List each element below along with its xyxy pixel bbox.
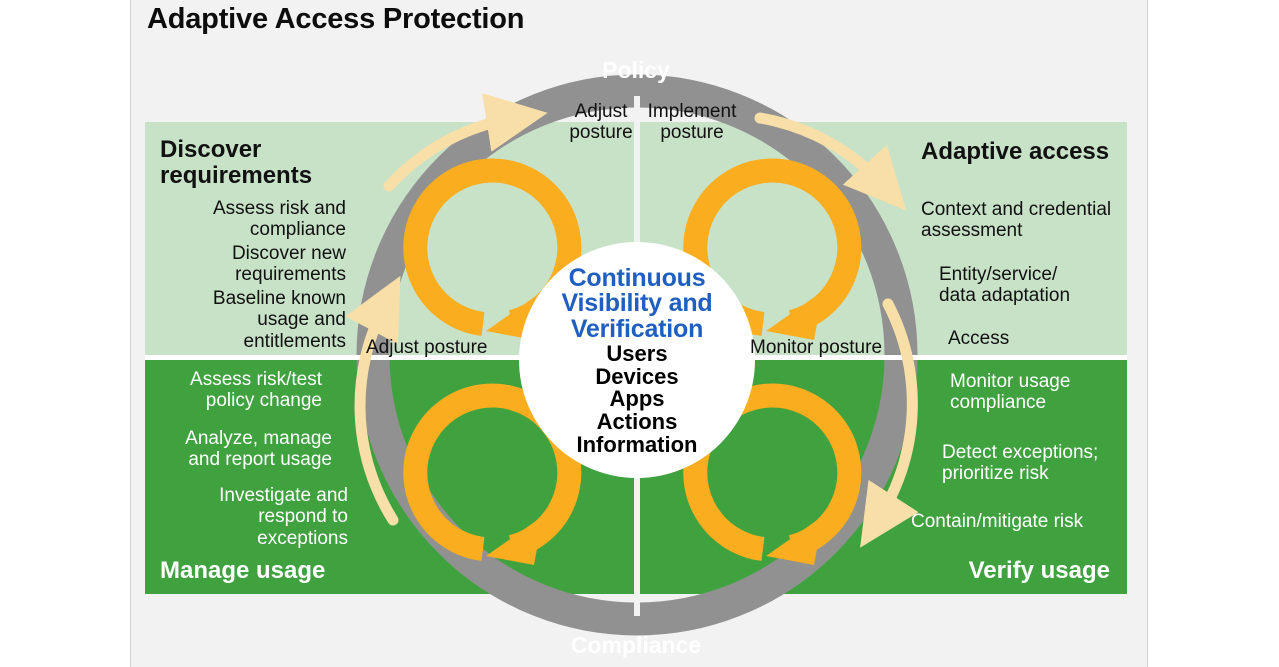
item-line: Discover new — [150, 243, 346, 264]
ring-label-policy: Policy — [576, 57, 696, 84]
center-content: Continuous Visibility and Verification U… — [517, 252, 757, 470]
heading-verify-usage: Verify usage — [830, 558, 1110, 584]
heading-line-2: requirements — [160, 163, 460, 189]
list-item: Assess risk/test policy change — [150, 369, 322, 412]
label-adjust-posture-left: Adjust posture — [366, 337, 536, 358]
list-item: Assess risk and compliance — [150, 198, 346, 241]
heading-adaptive-access: Adaptive access — [921, 139, 1221, 165]
item-line: Analyze, manage — [150, 428, 332, 449]
list-item: Entity/service/ data adaptation — [939, 264, 1139, 307]
item-line: policy change — [150, 390, 322, 411]
ring-label-compliance: Compliance — [556, 632, 716, 659]
heading-line-1: Discover — [160, 137, 460, 163]
label-line: Implement — [629, 101, 755, 122]
list-item: Context and credential assessment — [921, 199, 1131, 242]
label-monitor-posture-right: Monitor posture — [750, 337, 930, 358]
item-line: respond to — [150, 506, 348, 527]
list-item: Analyze, manage and report usage — [150, 428, 332, 471]
item-line: usage and — [150, 309, 346, 330]
heading-manage-usage: Manage usage — [160, 558, 480, 584]
label-line: posture — [629, 122, 755, 143]
item-line: Assess risk and — [150, 198, 346, 219]
item-line: Baseline known — [150, 288, 346, 309]
list-item: Access — [948, 328, 1148, 349]
center-item-apps: Apps — [610, 388, 665, 411]
item-line: Detect exceptions; — [942, 442, 1152, 463]
heading-discover-requirements: Discover requirements — [160, 137, 460, 189]
center-item-devices: Devices — [595, 366, 678, 389]
item-line: assessment — [921, 220, 1131, 241]
item-line: and report usage — [150, 449, 332, 470]
item-line: Access — [948, 328, 1148, 349]
center-item-information: Information — [577, 434, 698, 457]
list-item: Contain/mitigate risk — [911, 511, 1141, 532]
center-heading-line-3: Verification — [571, 317, 703, 343]
item-line: Contain/mitigate risk — [911, 511, 1141, 532]
item-line: Entity/service/ — [939, 264, 1139, 285]
list-item: Baseline known usage and entitlements — [150, 288, 346, 352]
item-line: entitlements — [150, 331, 346, 352]
item-line: compliance — [150, 219, 346, 240]
list-item: Discover new requirements — [150, 243, 346, 286]
list-item: Detect exceptions; prioritize risk — [942, 442, 1152, 485]
label-implement-posture-top: Implement posture — [629, 101, 755, 144]
item-line: compliance — [950, 392, 1150, 413]
item-line: requirements — [150, 264, 346, 285]
item-line: exceptions — [150, 528, 348, 549]
item-line: Investigate and — [150, 485, 348, 506]
list-item: Investigate and respond to exceptions — [150, 485, 348, 549]
page-title: Adaptive Access Protection — [147, 3, 524, 36]
item-line: Monitor usage — [950, 371, 1150, 392]
center-item-actions: Actions — [597, 411, 678, 434]
item-line: data adaptation — [939, 285, 1139, 306]
item-line: Assess risk/test — [150, 369, 322, 390]
diagram-canvas: Policy Compliance Adaptive Access Protec… — [0, 0, 1279, 667]
list-item: Monitor usage compliance — [950, 371, 1150, 414]
center-heading-line-2: Visibility and — [562, 291, 713, 317]
item-line: Context and credential — [921, 199, 1131, 220]
center-heading-line-1: Continuous — [569, 266, 706, 292]
item-line: prioritize risk — [942, 463, 1152, 484]
center-item-users: Users — [606, 343, 667, 366]
